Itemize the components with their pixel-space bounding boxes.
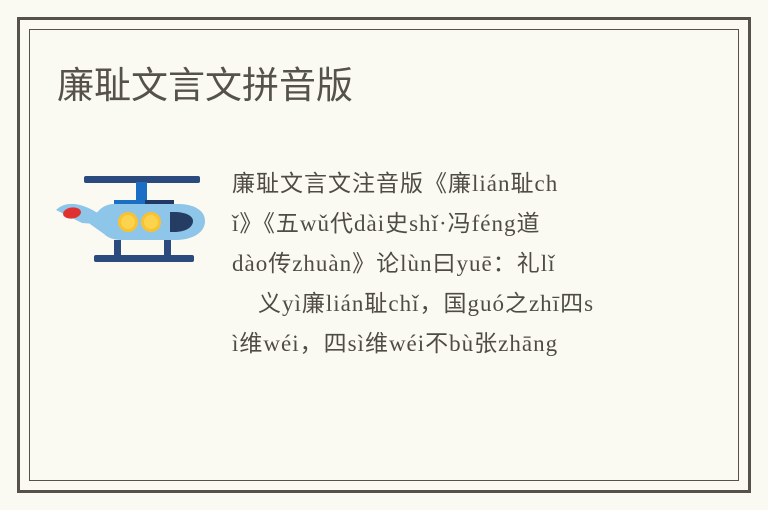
- skid-strut-left-icon: [114, 240, 121, 256]
- rotor-mast-icon: [136, 182, 147, 202]
- body-line: 廉耻文言文注音版《廉lián耻ch: [232, 164, 768, 204]
- body-line: dào传zhuàn》论lùn曰yuē：礼lǐ: [232, 244, 768, 284]
- article-body: 廉耻文言文注音版《廉lián耻ch ǐ》《五wǔ代dài史shǐ·冯féng道 …: [232, 164, 768, 364]
- skid-strut-right-icon: [164, 240, 171, 256]
- body-line: 义yì廉lián耻chǐ，国guó之zhī四s: [232, 284, 768, 324]
- body-line: ì维wéi，四sì维wéi不bù张zhāng: [232, 324, 768, 364]
- helicopter-illustration: [52, 168, 222, 278]
- skid-rail-icon: [94, 255, 194, 262]
- body-line: ǐ》《五wǔ代dài史shǐ·冯féng道: [232, 204, 768, 244]
- document-page: 廉耻文言文拼音版: [0, 0, 768, 510]
- rotor-blade-icon: [84, 176, 200, 183]
- page-title: 廉耻文言文拼音版: [57, 63, 353, 109]
- window-round-left-inner-icon: [121, 215, 135, 229]
- window-round-right-inner-icon: [144, 215, 158, 229]
